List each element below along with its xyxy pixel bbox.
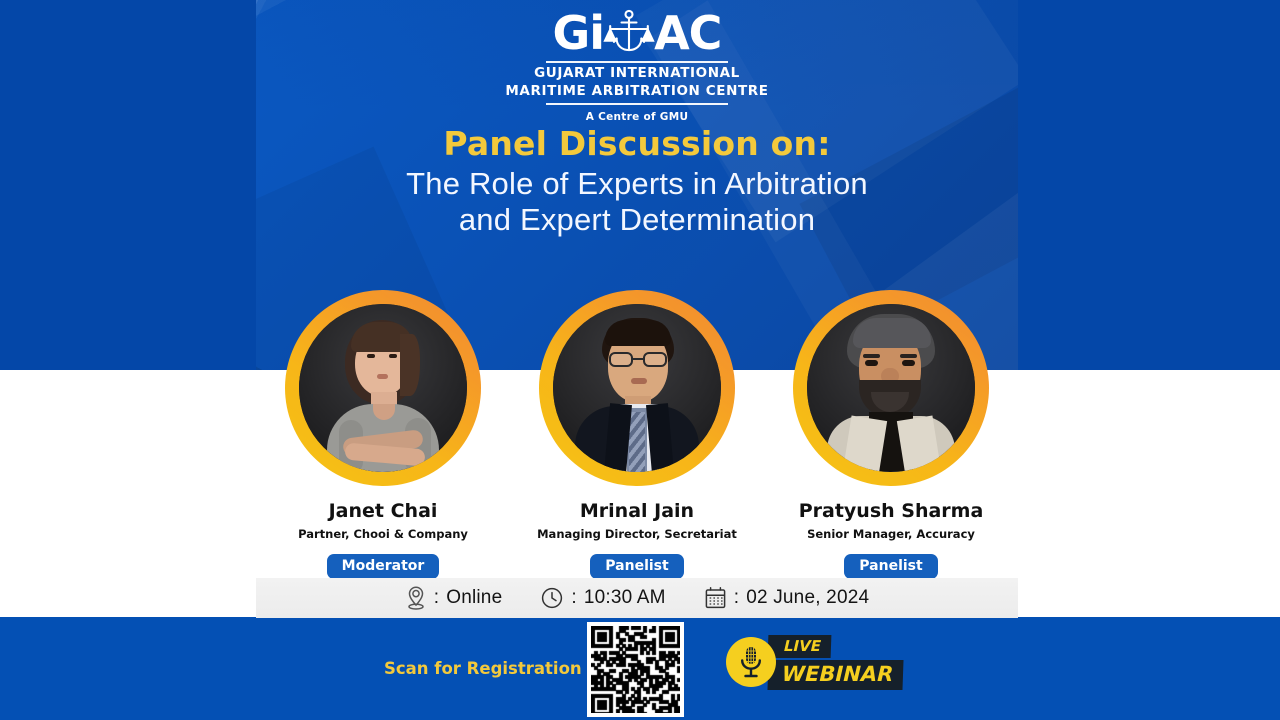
panel-title-line1: The Role of Experts in Arbitration (256, 166, 1018, 202)
left-letterbox-middle (0, 370, 256, 617)
portrait-illustration (299, 304, 467, 472)
portrait-illustration (553, 304, 721, 472)
logo-subtitle-line1: GUJARAT INTERNATIONAL (256, 66, 1018, 81)
anchor-scales-icon (602, 8, 656, 58)
right-letterbox-middle (1018, 370, 1280, 617)
speaker-badge: Moderator (327, 554, 440, 579)
location-pin-icon (405, 585, 427, 611)
clock-icon (540, 586, 564, 610)
event-detail-time: : 10:30 AM (540, 586, 665, 610)
avatar-ring (285, 290, 481, 486)
registration-bar: Scan for Registration (256, 618, 1018, 720)
right-letterbox-bottom (1018, 617, 1280, 720)
logo-divider-top (546, 61, 728, 63)
speaker-card: Pratyush Sharma Senior Manager, Accuracy… (771, 290, 1011, 579)
avatar-ring (539, 290, 735, 486)
speaker-list: Janet Chai Partner, Chooi & Company Mode… (256, 290, 1018, 579)
detail-separator: : (734, 587, 739, 609)
webinar-poster: Gi (0, 0, 1280, 720)
detail-separator: : (434, 587, 439, 609)
logo-subtitle-line2: MARITIME ARBITRATION CENTRE (256, 84, 1018, 99)
microphone-icon (726, 637, 776, 687)
speaker-name: Mrinal Jain (517, 500, 757, 522)
portrait-illustration (807, 304, 975, 472)
avatar (807, 304, 975, 472)
detail-separator: : (571, 587, 576, 609)
qr-code-icon[interactable] (587, 622, 684, 717)
webinar-label: WEBINAR (767, 660, 903, 690)
live-webinar-badge: LIVE WEBINAR (726, 636, 903, 688)
logo-tagline: A Centre of GMU (256, 111, 1018, 123)
right-letterbox-top (1018, 0, 1280, 370)
event-details-bar: : Online : 10:30 AM (256, 578, 1018, 618)
panel-title: The Role of Experts in Arbitration and E… (256, 166, 1018, 238)
speaker-role: Partner, Chooi & Company (263, 527, 503, 541)
logo-text-left: Gi (553, 10, 605, 56)
speaker-role: Managing Director, Secretariat (517, 527, 757, 541)
speaker-name: Pratyush Sharma (771, 500, 1011, 522)
right-letterbox (1018, 0, 1280, 720)
left-letterbox-top (0, 0, 256, 370)
poster-content-panel: Gi (256, 0, 1018, 720)
calendar-icon (704, 586, 727, 610)
detail-value: 10:30 AM (584, 587, 666, 609)
detail-value: 02 June, 2024 (746, 587, 869, 609)
logo-divider-bottom (546, 103, 728, 105)
event-detail-date: : 02 June, 2024 (704, 586, 870, 610)
panel-kicker: Panel Discussion on: (256, 124, 1018, 163)
speaker-card: Mrinal Jain Managing Director, Secretari… (517, 290, 757, 579)
speaker-role: Senior Manager, Accuracy (771, 527, 1011, 541)
speaker-badge: Panelist (844, 554, 937, 579)
avatar (553, 304, 721, 472)
speaker-badge: Panelist (590, 554, 683, 579)
detail-value: Online (446, 587, 502, 609)
left-letterbox (0, 0, 256, 720)
speaker-name: Janet Chai (263, 500, 503, 522)
event-detail-location: : Online (405, 585, 503, 611)
avatar-ring (793, 290, 989, 486)
left-letterbox-bottom (0, 617, 256, 720)
speaker-card: Janet Chai Partner, Chooi & Company Mode… (263, 290, 503, 579)
scan-label: Scan for Registration (384, 659, 582, 678)
logo-text-right: AC (654, 10, 721, 56)
panel-title-line2: and Expert Determination (256, 202, 1018, 238)
live-label: LIVE (768, 635, 832, 658)
gimac-logo: Gi (256, 8, 1018, 123)
avatar (299, 304, 467, 472)
